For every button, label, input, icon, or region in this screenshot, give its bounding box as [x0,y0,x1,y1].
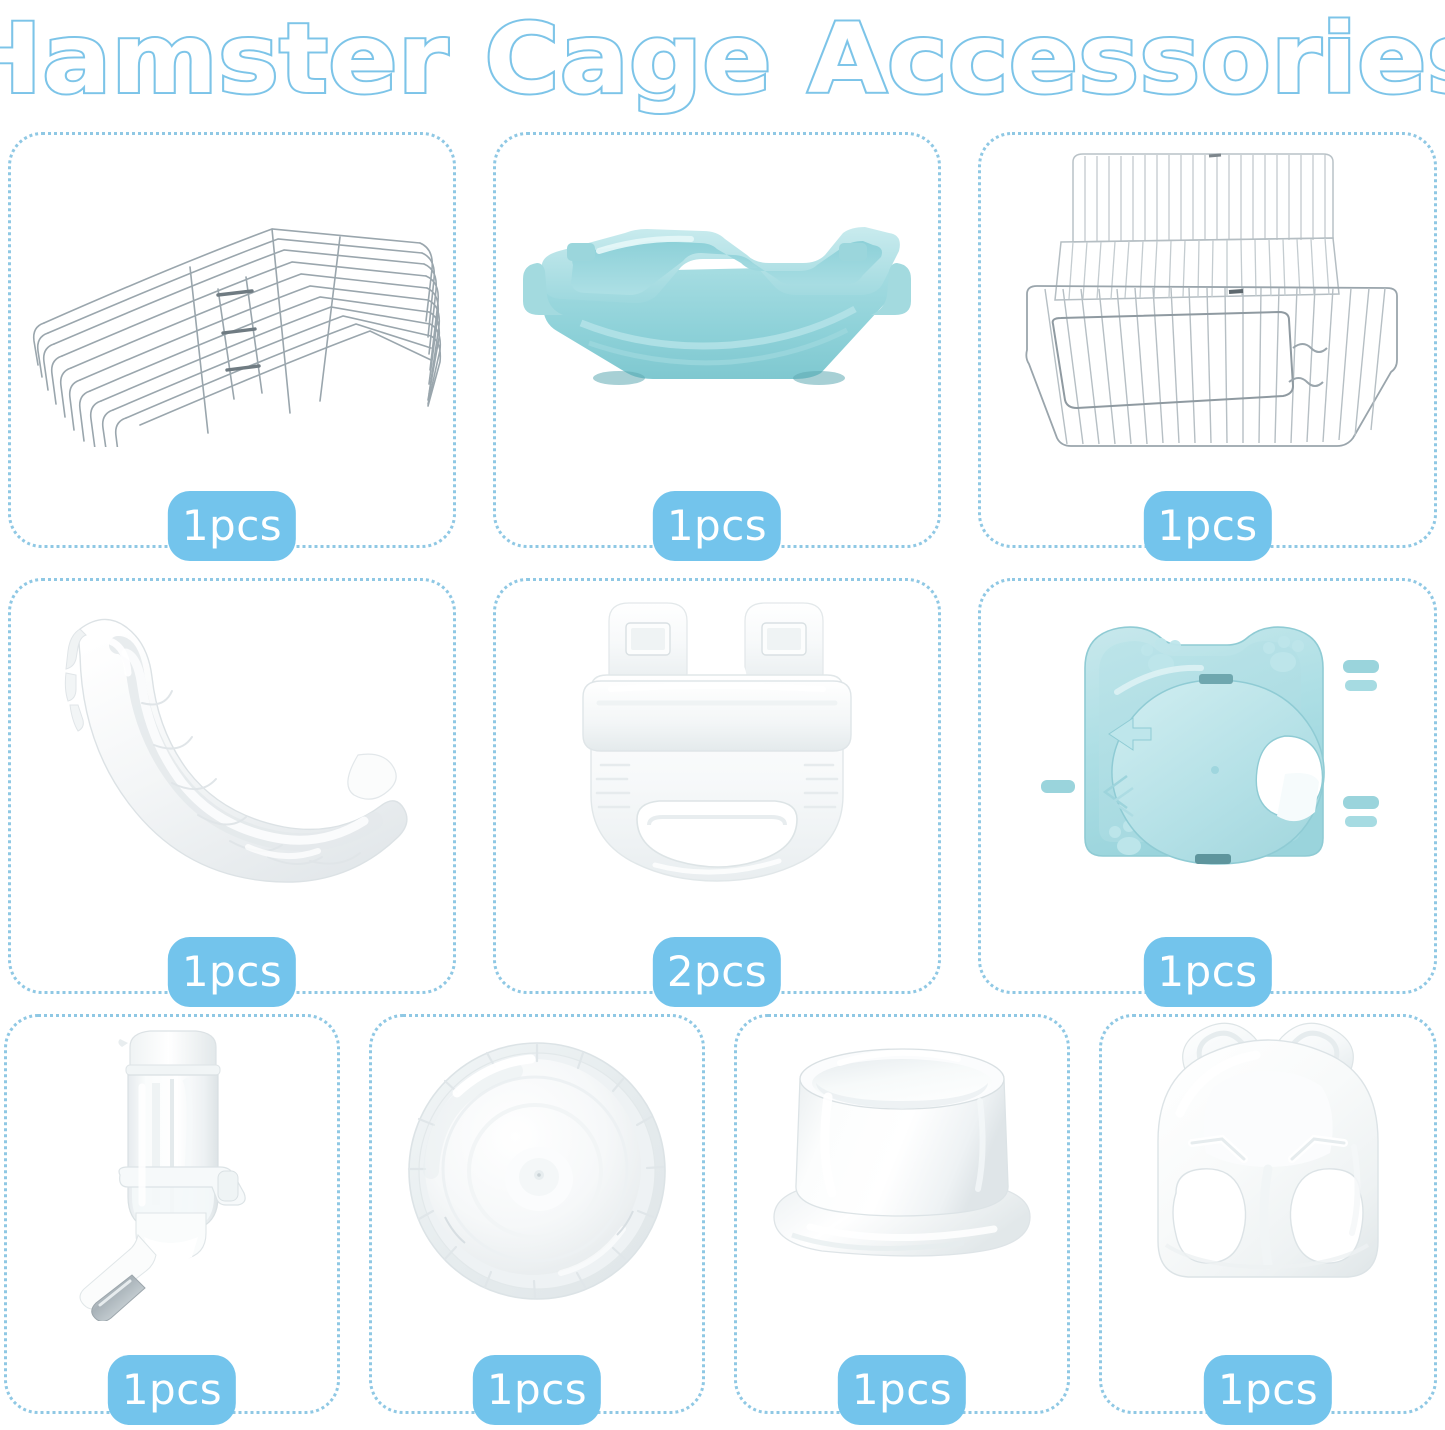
quantity-badge: 1pcs [1143,491,1271,561]
quantity-badge: 1pcs [838,1355,966,1425]
quantity-badge: 1pcs [168,937,296,1007]
quantity-badge: 1pcs [168,491,296,561]
quantity-badge: 1pcs [653,491,781,561]
quantity-badge: 2pcs [653,937,781,1007]
accessory-cell-wire-cage-panels[interactable]: 1pcs [978,132,1437,548]
quantity-badge: 1pcs [1143,937,1271,1007]
quantity-badge: 1pcs [473,1355,601,1425]
tunnel-slide-icon [11,581,453,905]
accessory-cell-food-bowl[interactable]: 1pcs [734,1014,1070,1414]
accessory-cell-blue-base-tray[interactable]: 1pcs [493,132,941,548]
page-header: Hamster Cage Accessories [0,0,1445,118]
accessory-cell-exercise-wheel[interactable]: 1pcs [369,1014,705,1414]
accessory-cell-curved-tunnel-slide[interactable]: 1pcs [8,578,456,994]
wire-grid-icon [11,135,453,459]
exercise-wheel-icon [372,1017,702,1325]
bracket-icon [496,581,938,905]
quantity-badge: 1pcs [108,1355,236,1425]
accessory-cell-bear-base-plate[interactable]: 1pcs [978,578,1437,994]
tray-icon [496,135,938,459]
quantity-badge: 1pcs [1204,1355,1332,1425]
water-bottle-icon [7,1017,337,1325]
bear-house-icon [1102,1017,1434,1325]
page-title: Hamster Cage Accessories [0,11,1445,107]
accessory-cell-bear-hideout-house[interactable]: 1pcs [1099,1014,1437,1414]
cage-panel-icon [981,135,1434,459]
accessory-grid: 1pcs [0,118,1445,1430]
accessory-cell-water-bottle[interactable]: 1pcs [4,1014,340,1414]
accessory-cell-wire-top-grid[interactable]: 1pcs [8,132,456,548]
food-bowl-icon [737,1017,1067,1325]
bear-plate-icon [981,581,1434,905]
accessory-cell-platform-bracket[interactable]: 2pcs [493,578,941,994]
